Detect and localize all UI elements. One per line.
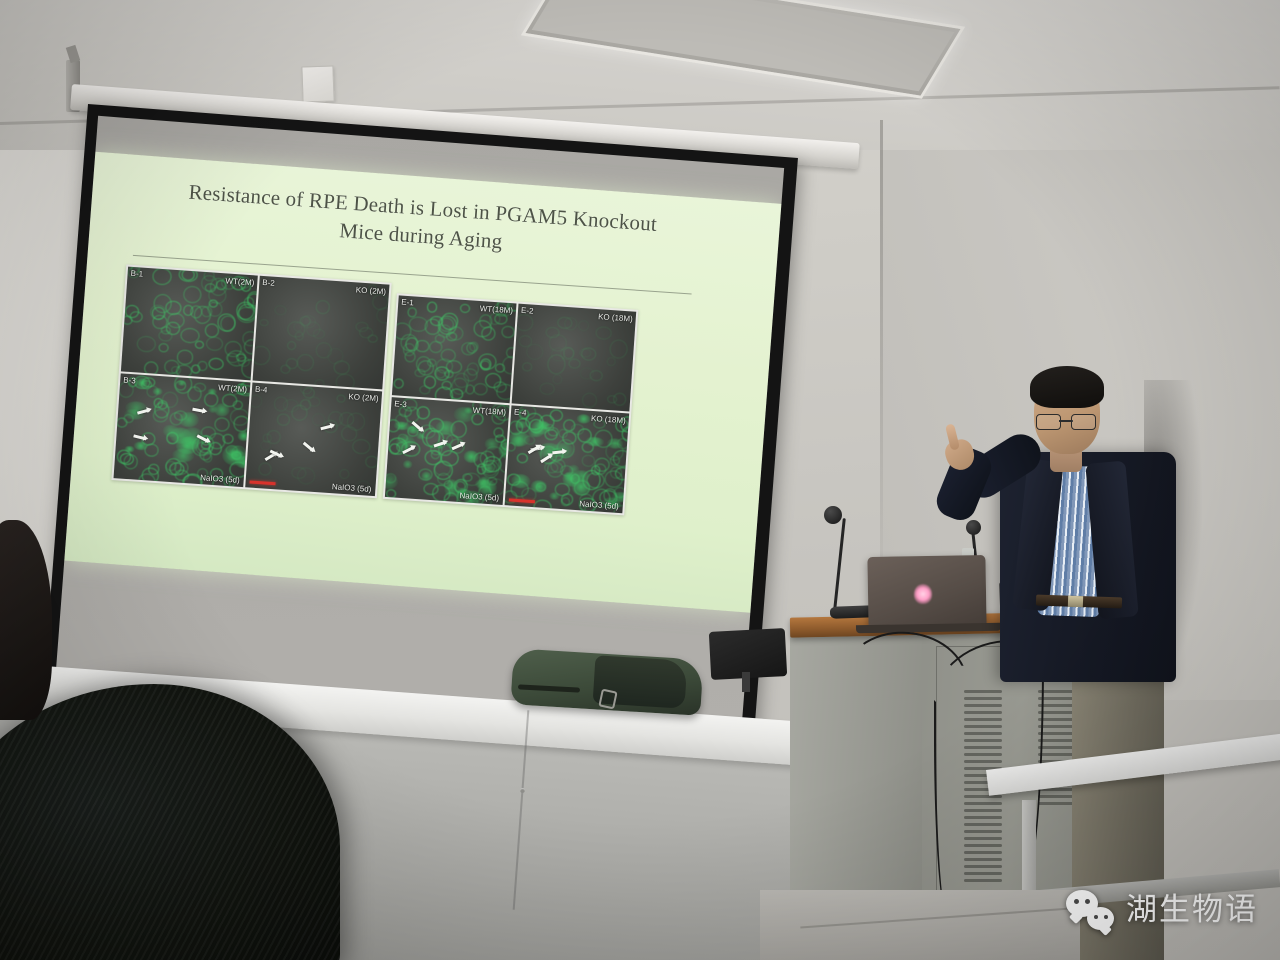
micrograph-panel-b2: B-2 KO (2M): [253, 276, 390, 390]
panel-id: B-2: [262, 278, 275, 288]
panel-id: E-2: [521, 306, 534, 316]
figure-group-B: B-1 WT(2M) B-2 KO (2M): [111, 264, 391, 498]
panel-id: B-3: [123, 376, 136, 386]
presenter-glasses: [1036, 414, 1096, 428]
wall-corner: [880, 120, 883, 560]
figure-group-E: E-1 WT(18M) E-2 KO (18M): [383, 293, 639, 515]
microphone-head-secondary: [966, 520, 981, 535]
projected-slide: Resistance of RPE Death is Lost in PGAM5…: [64, 152, 781, 613]
apple-logo-icon: [914, 584, 932, 604]
panel-condition: WT(2M): [225, 276, 254, 287]
panel-id: E-1: [401, 298, 414, 308]
panel-condition: WT(2M): [218, 383, 247, 394]
lecture-hall-photo: Resistance of RPE Death is Lost in PGAM5…: [0, 0, 1280, 960]
panel-id: E-4: [514, 408, 527, 418]
micrograph-panel-e2: E-2 KO (18M): [512, 304, 637, 412]
watermark-text: 湖生物语: [1126, 895, 1258, 926]
microphone-head: [824, 506, 842, 524]
micrograph-panel-b3: B-3 WT(2M) NaIO3 (5d): [114, 373, 251, 487]
projection-screen: Resistance of RPE Death is Lost in PGAM5…: [44, 104, 798, 741]
wechat-logo-icon: [1066, 890, 1114, 930]
micrograph-panel-e4: E-4 KO (18M) NaIO3 (5d): [505, 405, 630, 513]
presenter-hair: [1030, 366, 1104, 408]
micrograph-panel-b4: B-4 KO (2M) NaIO3 (5d): [245, 382, 382, 496]
micrograph-panel-b1: B-1 WT(2M): [121, 267, 258, 381]
micrograph-panel-e3: E-3 WT(18M) NaIO3 (5d): [385, 397, 510, 505]
panel-id: B-1: [130, 269, 143, 279]
bench-screw: [520, 788, 525, 793]
screen-surface: Resistance of RPE Death is Lost in PGAM5…: [56, 116, 785, 728]
chair-post: [742, 672, 750, 692]
wall-mounted-box: [301, 65, 334, 102]
slide-title: Resistance of RPE Death is Lost in PGAM5…: [131, 175, 713, 270]
panel-id: E-3: [394, 399, 407, 409]
watermark: 湖生物语: [1066, 890, 1258, 930]
panel-id: B-4: [255, 385, 268, 395]
presenter-belt-buckle: [1068, 596, 1083, 608]
micrograph-panel-e1: E-1 WT(18M): [392, 295, 517, 403]
